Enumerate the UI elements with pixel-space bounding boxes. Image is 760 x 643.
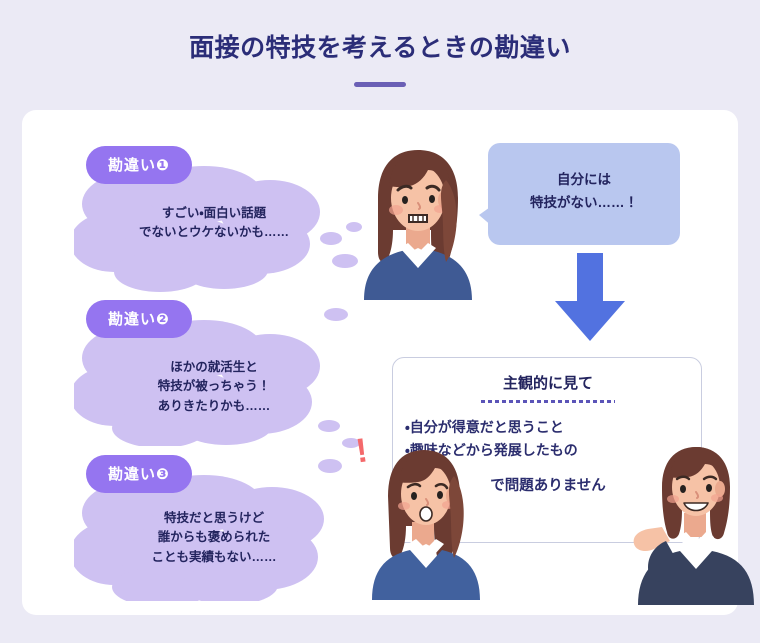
answer-title-underline bbox=[481, 400, 615, 403]
answer-item: ・自分が得意だと思うこと bbox=[405, 416, 691, 439]
character-smiling-advisor bbox=[630, 437, 754, 605]
character-surprised-student bbox=[366, 440, 484, 600]
misconception-text-1: すごい・面白い話題 でないとウケないかも…… bbox=[104, 204, 324, 243]
misconception-group-3: 勘違い❸ 特技だと思うけど 誰からも褒められた ことも実績もない…… bbox=[74, 455, 374, 605]
misconception-badge-2: 勘違い❷ bbox=[86, 300, 192, 338]
page-title: 面接の特技を考えるときの勘違い bbox=[0, 28, 760, 64]
misconception-text-3: 特技だと思うけど 誰からも褒められた ことも実績もない…… bbox=[104, 509, 324, 567]
character-worried-student bbox=[348, 140, 488, 300]
infographic-page: 面接の特技を考えるときの勘違い bbox=[0, 0, 760, 643]
thought-mini-bubble bbox=[318, 420, 340, 432]
thought-mini-bubble bbox=[324, 308, 348, 321]
speech-bubble: 自分には 特技がない……！ bbox=[488, 143, 680, 245]
speech-bubble-tail bbox=[479, 205, 493, 227]
misconception-text-2: ほかの就活生と 特技が被っちゃう！ ありきたりかも…… bbox=[104, 358, 324, 416]
title-divider bbox=[354, 82, 406, 87]
misconception-group-2: 勘違い❷ ほかの就活生と 特技が被っちゃう！ ありきたりかも…… bbox=[74, 300, 374, 450]
down-arrow-icon bbox=[551, 253, 629, 341]
thought-mini-bubble bbox=[318, 459, 342, 473]
misconception-badge-3: 勘違い❸ bbox=[86, 455, 192, 493]
answer-title: 主観的に見て bbox=[393, 372, 703, 393]
speech-bubble-text: 自分には 特技がない……！ bbox=[488, 169, 680, 215]
misconception-group-1: 勘違い❶ すごい・面白い話題 でないとウケないかも…… bbox=[74, 146, 374, 296]
misconception-badge-1: 勘違い❶ bbox=[86, 146, 192, 184]
